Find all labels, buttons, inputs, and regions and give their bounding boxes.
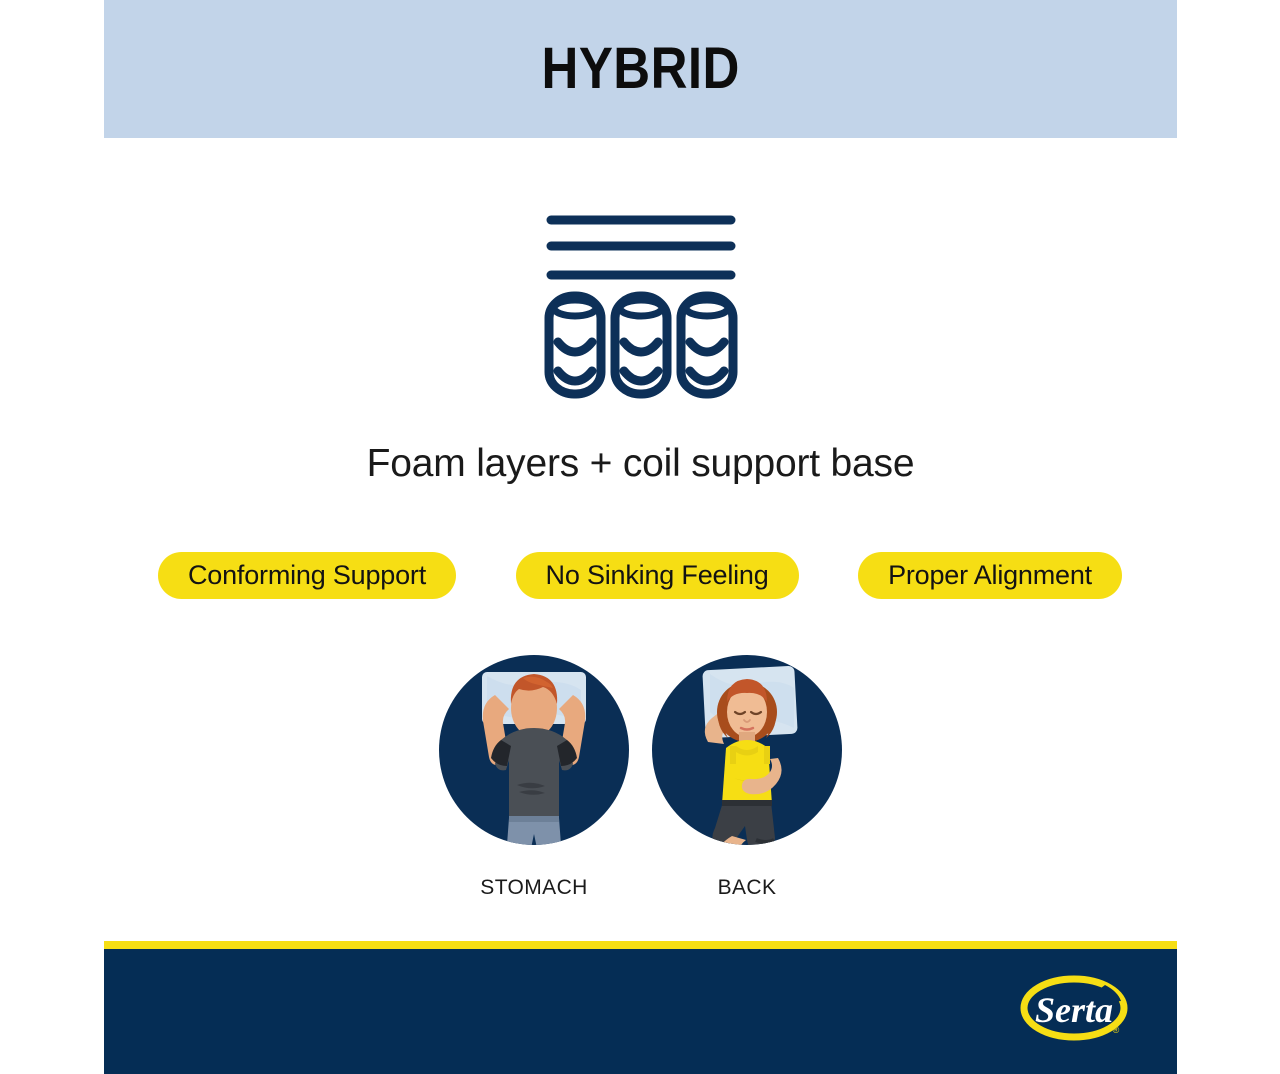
sleep-position-row: STOMACH [104,650,1177,900]
coil-2 [615,296,667,394]
back-sleeper-illustration [652,650,842,850]
header-band: HYBRID [104,0,1177,138]
sleep-position-label-stomach: STOMACH [480,876,587,900]
stomach-sleeper-illustration [439,650,629,850]
sleep-position-label-back: BACK [718,876,777,900]
sleep-position-back[interactable]: BACK [652,650,842,900]
serta-wordmark: Serta [1035,990,1113,1030]
infographic-page: HYBRID [0,0,1280,1074]
benefit-pill-row: Conforming Support No Sinking Feeling Pr… [158,552,1122,599]
footer-accent-bar [104,941,1177,949]
footer-band: Serta ® [104,949,1177,1074]
benefit-pill-conforming-support[interactable]: Conforming Support [158,552,456,599]
sleep-position-stomach[interactable]: STOMACH [439,650,629,900]
hybrid-mattress-card: HYBRID [104,0,1177,1074]
hybrid-mattress-icon [541,196,741,400]
hybrid-mattress-icon-container [104,196,1177,400]
benefit-pill-proper-alignment[interactable]: Proper Alignment [858,552,1122,599]
coil-3 [681,296,733,394]
coil-1 [549,296,601,394]
construction-description: Foam layers + coil support base [104,442,1177,486]
page-title: HYBRID [541,40,739,98]
registered-trademark-icon: ® [1113,1025,1120,1035]
serta-logo[interactable]: Serta ® [1019,975,1129,1043]
benefit-pill-no-sinking-feeling[interactable]: No Sinking Feeling [516,552,799,599]
